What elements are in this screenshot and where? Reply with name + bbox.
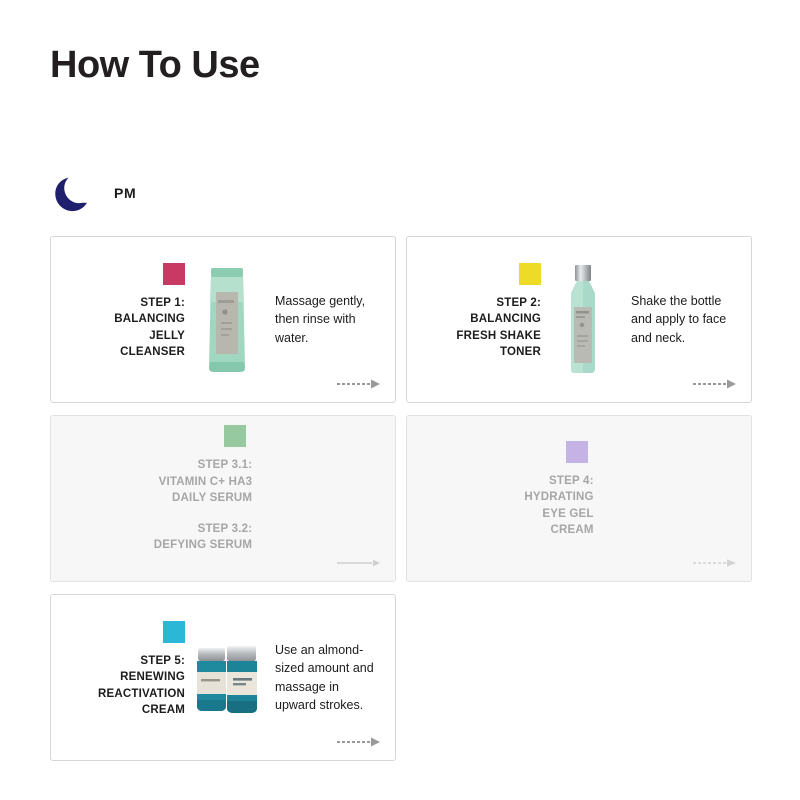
routine-steps-grid: STEP 1:BALANCINGJELLYCLEANSER <box>50 236 752 761</box>
step-1-instruction: Massage gently, then rinse with water. <box>269 292 381 348</box>
page-title: How To Use <box>50 44 260 87</box>
step-3-next-arrow[interactable] <box>337 558 381 568</box>
balancing-fresh-shake-toner-bottle <box>545 261 621 379</box>
step2-color-swatch <box>519 263 541 285</box>
how-to-use-page: How To Use PM STEP 1:BALANCINGJELLYCLEAN… <box>0 0 800 800</box>
step-5-instruction: Use an almond-sized amount and massage i… <box>269 641 381 715</box>
step-1-card[interactable]: STEP 1:BALANCINGJELLYCLEANSER <box>50 236 396 403</box>
moon-icon <box>52 172 92 214</box>
step-4-card[interactable]: STEP 4:HYDRATINGEYE GELCREAM <box>406 415 752 582</box>
step-1-title: STEP 1:BALANCINGJELLYCLEANSER <box>65 279 185 360</box>
step-4-next-arrow[interactable] <box>693 558 737 568</box>
step-5-title: STEP 5:RENEWINGREACTIVATIONCREAM <box>65 637 185 718</box>
step-3-card[interactable]: STEP 3.1:VITAMIN C+ HA3DAILY SERUM STEP … <box>50 415 396 582</box>
period-indicator-pm: PM <box>52 172 136 214</box>
step1-color-swatch <box>163 263 185 285</box>
balancing-jelly-cleanser-tube <box>189 262 265 378</box>
step-3-1-title: STEP 3.1:VITAMIN C+ HA3DAILY SERUM <box>154 457 252 506</box>
step-2-title: STEP 2:BALANCINGFRESH SHAKETONER <box>421 279 541 360</box>
step-2-next-arrow[interactable] <box>693 379 737 389</box>
step-4-title: STEP 4:HYDRATINGEYE GELCREAM <box>524 473 593 538</box>
step-3-2-title: STEP 3.2:DEFYING SERUM <box>154 521 252 554</box>
renewing-reactivation-cream-jar <box>189 632 265 724</box>
step3-color-swatch <box>224 425 246 447</box>
step-5-next-arrow[interactable] <box>337 737 381 747</box>
period-label: PM <box>114 185 136 201</box>
step-2-instruction: Shake the bottle and apply to face and n… <box>625 292 737 348</box>
step5-color-swatch <box>163 621 185 643</box>
step4-color-swatch <box>566 441 588 463</box>
step-5-card[interactable]: STEP 5:RENEWINGREACTIVATIONCREAM <box>50 594 396 761</box>
step-1-next-arrow[interactable] <box>337 379 381 389</box>
step-2-card[interactable]: STEP 2:BALANCINGFRESH SHAKETONER <box>406 236 752 403</box>
